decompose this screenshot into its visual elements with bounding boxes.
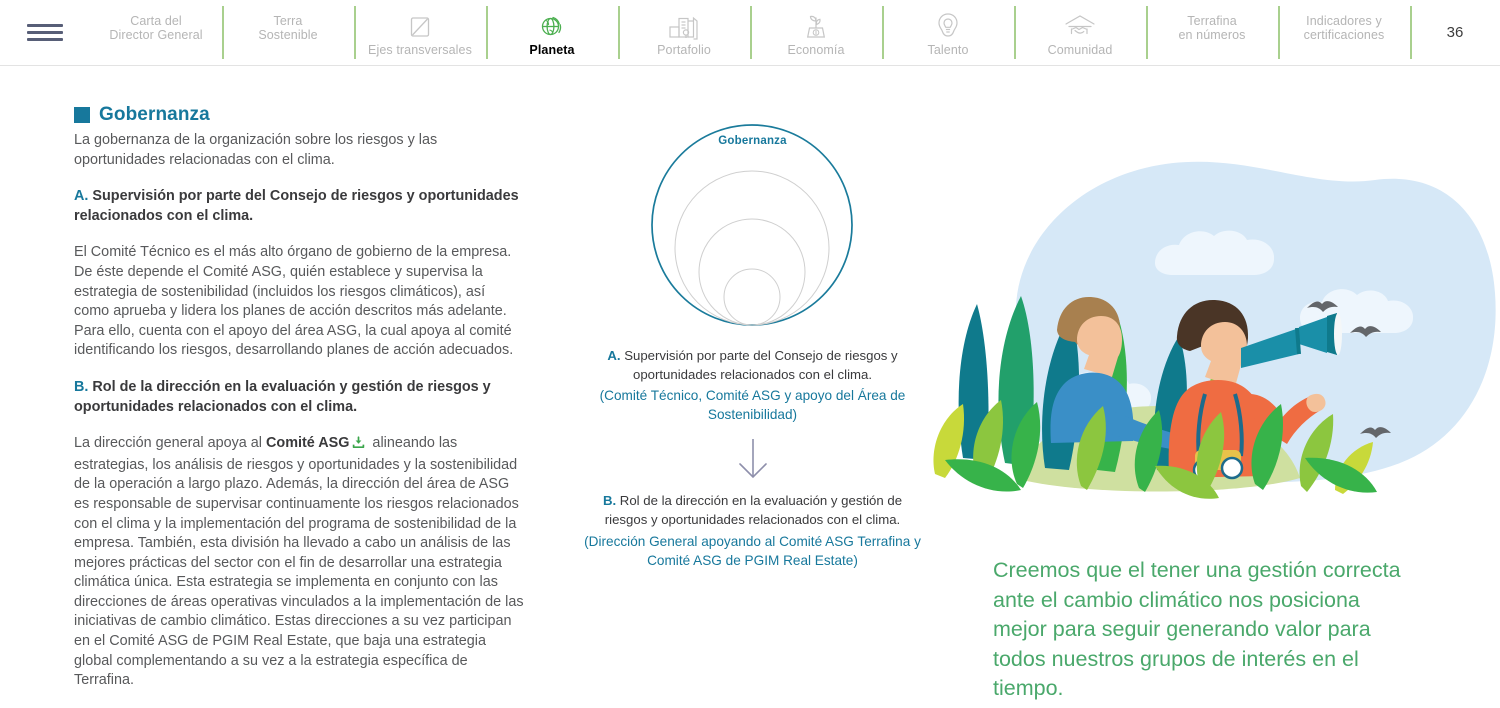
flow-b-note: (Dirección General apoyando al Comité AS… [568,532,937,570]
nav-item-label: Planeta [529,43,574,57]
nav-item-comunidad[interactable]: Comunidad [1014,0,1146,65]
nav-items: Carta del Director General Terra Sosteni… [90,0,1410,65]
flow-a-body: Supervisión por parte del Consejo de rie… [621,348,898,382]
telescope-lens [1334,313,1342,355]
buildings-icon [664,11,704,41]
flow-a-letter: A. [607,348,620,363]
nav-item-talento[interactable]: Talento [882,0,1014,65]
lightbulb-head-icon [928,11,968,41]
concentric-circles-diagram: Gobernanza [560,120,945,335]
flow-b-body: Rol de la dirección en la evaluación y g… [605,493,902,527]
circle-second [675,171,829,325]
illustration-two-people-with-telescope [905,118,1500,538]
nav-item-label: Terra Sostenible [258,14,317,42]
flow-a-note: (Comité Técnico, Comité ASG y apoyo del … [568,386,937,424]
flow-block-a: A. Supervisión por parte del Consejo de … [560,347,945,424]
item-b-letter: B. [74,379,88,395]
item-a-heading: A. Supervisión por parte del Consejo de … [74,187,524,226]
flow-block-b: B. Rol de la dirección en la evaluación … [560,492,945,570]
nav-item-label: Indicadores y certificaciones [1304,14,1385,42]
nav-item-economia[interactable]: Economía [750,0,882,65]
section-bullet-square-icon [74,107,90,123]
page-number: 36 [1410,0,1500,65]
nav-item-indicadores-y-certificaciones[interactable]: Indicadores y certificaciones [1278,0,1410,65]
flow-b-letter: B. [603,493,616,508]
green-quote-text: Creemos que el tener una gestión correct… [993,556,1413,704]
handshake-house-icon [1060,11,1100,41]
flow-a-text: A. Supervisión por parte del Consejo de … [578,347,927,384]
item-b-body-post: alineando las estrategias, los análisis … [74,435,524,688]
comite-asg-link[interactable]: Comité ASG [266,435,349,451]
circle-inner [724,269,780,325]
item-a-heading-text: Supervisión por parte del Consejo de rie… [74,188,519,224]
nav-item-label: Ejes transversales [368,43,472,57]
nav-item-label: Economía [787,43,844,57]
nav-item-label: Carta del Director General [109,14,202,42]
nav-item-label: Comunidad [1048,43,1113,57]
item-a-letter: A. [74,188,88,204]
top-navigation-bar: Carta del Director General Terra Sosteni… [0,0,1500,66]
section-heading: Gobernanza [74,104,524,126]
money-plant-icon [796,11,836,41]
item-b-body-pre: La dirección general apoya al [74,435,266,451]
circle-third [699,219,805,325]
nav-item-label: Portafolio [657,43,711,57]
download-tray-icon[interactable] [352,436,365,456]
item-b-heading: B. Rol de la dirección en la evaluación … [74,378,524,417]
menu-icon[interactable] [0,0,90,65]
nav-item-portafolio[interactable]: Portafolio [618,0,750,65]
governance-diagram-column: Gobernanza A. Supervisión por parte del … [560,120,945,570]
circles-svg [560,120,945,335]
diagonal-square-icon [400,11,440,41]
item-b-heading-text: Rol de la dirección en la evaluación y g… [74,379,491,415]
nav-item-ejes-transversales[interactable]: Ejes transversales [354,0,486,65]
circle-outer [652,125,852,325]
nav-item-terrafina-en-numeros[interactable]: Terrafina en números [1146,0,1278,65]
telescope-ring [1297,328,1299,354]
hamburger-lines [27,24,63,41]
binocular-lens-right [1222,458,1242,478]
left-text-column: Gobernanza La gobernanza de la organizac… [74,104,524,708]
item-b-body: La dirección general apoya al Comité ASG… [74,434,524,691]
flow-b-text: B. Rol de la dirección en la evaluación … [590,492,915,529]
page-title: Gobernanza [99,104,210,126]
nav-item-label: Terrafina en números [1178,14,1245,42]
diagram-label: Gobernanza [560,135,945,147]
globe-icon [532,11,572,41]
nav-item-carta-del-director-general[interactable]: Carta del Director General [90,0,222,65]
nav-item-terra-sostenible[interactable]: Terra Sostenible [222,0,354,65]
nav-item-planeta[interactable]: Planeta [486,0,618,65]
nav-item-label: Talento [927,43,968,57]
section-lead-paragraph: La gobernanza de la organización sobre l… [74,131,524,170]
arrow-down-icon [560,438,945,480]
item-a-body: El Comité Técnico es el más alto órgano … [74,243,524,361]
